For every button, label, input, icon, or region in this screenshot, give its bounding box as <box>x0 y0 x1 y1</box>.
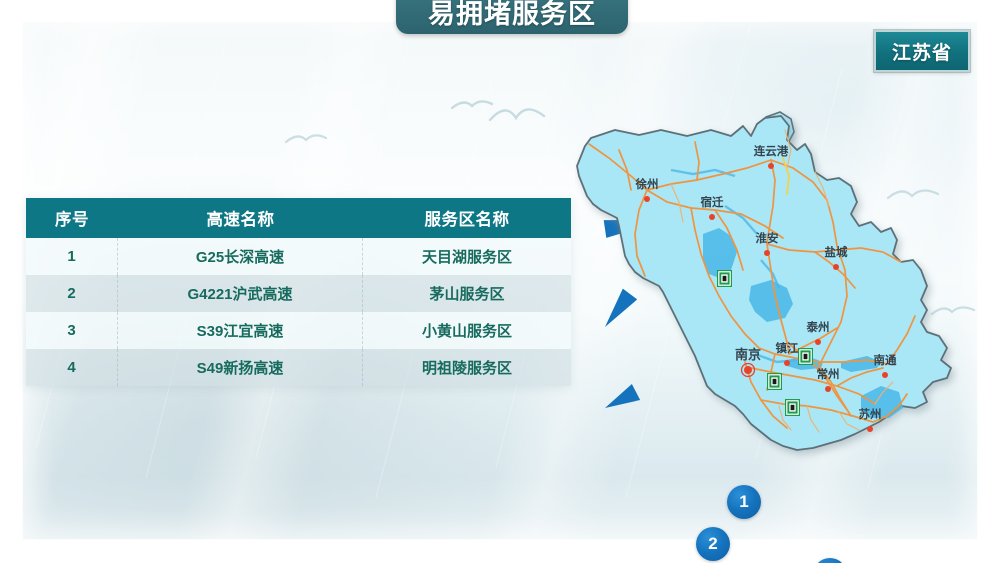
city-label: 南通 <box>874 353 897 367</box>
table-row[interactable]: 3S39江宜高速小黄山服务区 <box>26 312 571 349</box>
city-dot-icon <box>815 339 821 345</box>
cell-index: 4 <box>26 349 118 386</box>
city-label: 淮安 <box>756 231 779 245</box>
province-badge-label: 江苏省 <box>892 38 952 65</box>
column-header-highway: 高速名称 <box>118 198 363 238</box>
page-title-banner: 易拥堵服务区 <box>396 0 628 34</box>
infographic-canvas: 易拥堵服务区 江苏省 序号 高速名称 服务区名称 1G25长深高速天目湖服务区2… <box>0 0 1000 563</box>
column-header-service-area: 服务区名称 <box>363 198 571 238</box>
cell-index: 3 <box>26 312 118 349</box>
table-body: 1G25长深高速天目湖服务区2G4221沪武高速茅山服务区3S39江宜高速小黄山… <box>26 238 571 386</box>
city-dot-icon <box>784 360 790 366</box>
table-header-row: 序号 高速名称 服务区名称 <box>26 198 571 238</box>
city-label: 泰州 <box>806 320 830 334</box>
cell-service-area: 明祖陵服务区 <box>363 349 571 386</box>
city-dot-icon <box>867 426 873 432</box>
cell-index: 1 <box>26 238 118 275</box>
city-label: 盐城 <box>825 245 848 259</box>
cell-highway: S39江宜高速 <box>118 312 363 349</box>
service-area-icon[interactable] <box>785 399 800 416</box>
cell-highway: S49新扬高速 <box>118 349 363 386</box>
table-row[interactable]: 4S49新扬高速明祖陵服务区 <box>26 349 571 386</box>
city-label: 徐州 <box>635 177 659 191</box>
table-row[interactable]: 1G25长深高速天目湖服务区 <box>26 238 571 275</box>
city-dot-icon <box>764 250 770 256</box>
city-label: 常州 <box>817 367 840 381</box>
city-label: 南京 <box>735 347 761 362</box>
service-area-icon[interactable] <box>798 348 813 365</box>
marker-number-badge[interactable]: 2 <box>696 527 730 561</box>
jiangsu-province-map: 连云港徐州宿迁淮安盐城泰州镇江南京南通常州苏州 1234 <box>575 110 985 480</box>
service-area-icon[interactable] <box>767 373 782 390</box>
service-area-icon[interactable] <box>717 270 732 287</box>
city-label: 连云港 <box>754 144 789 158</box>
cell-highway: G4221沪武高速 <box>118 275 363 312</box>
marker-number-badge[interactable]: 3 <box>813 558 847 563</box>
city-dot-icon <box>833 264 839 270</box>
city-label: 苏州 <box>859 407 882 421</box>
cell-service-area: 茅山服务区 <box>363 275 571 312</box>
city-dot-icon <box>709 214 715 220</box>
province-badge: 江苏省 <box>874 30 970 72</box>
city-dot-icon <box>825 386 831 392</box>
city-dot-icon <box>744 366 752 374</box>
marker-number-badge[interactable]: 1 <box>727 485 761 519</box>
city-label: 镇江 <box>776 341 799 355</box>
column-header-index: 序号 <box>26 198 118 238</box>
city-dot-icon <box>644 196 650 202</box>
cell-service-area: 小黄山服务区 <box>363 312 571 349</box>
city-dot-icon <box>882 372 888 378</box>
service-area-table: 序号 高速名称 服务区名称 1G25长深高速天目湖服务区2G4221沪武高速茅山… <box>26 198 571 386</box>
cell-index: 2 <box>26 275 118 312</box>
cell-service-area: 天目湖服务区 <box>363 238 571 275</box>
city-dot-icon <box>768 163 774 169</box>
city-label: 宿迁 <box>701 195 724 209</box>
table-row[interactable]: 2G4221沪武高速茅山服务区 <box>26 275 571 312</box>
map-svg: 连云港徐州宿迁淮安盐城泰州镇江南京南通常州苏州 <box>575 110 985 480</box>
page-title: 易拥堵服务区 <box>428 0 596 31</box>
cell-highway: G25长深高速 <box>118 238 363 275</box>
